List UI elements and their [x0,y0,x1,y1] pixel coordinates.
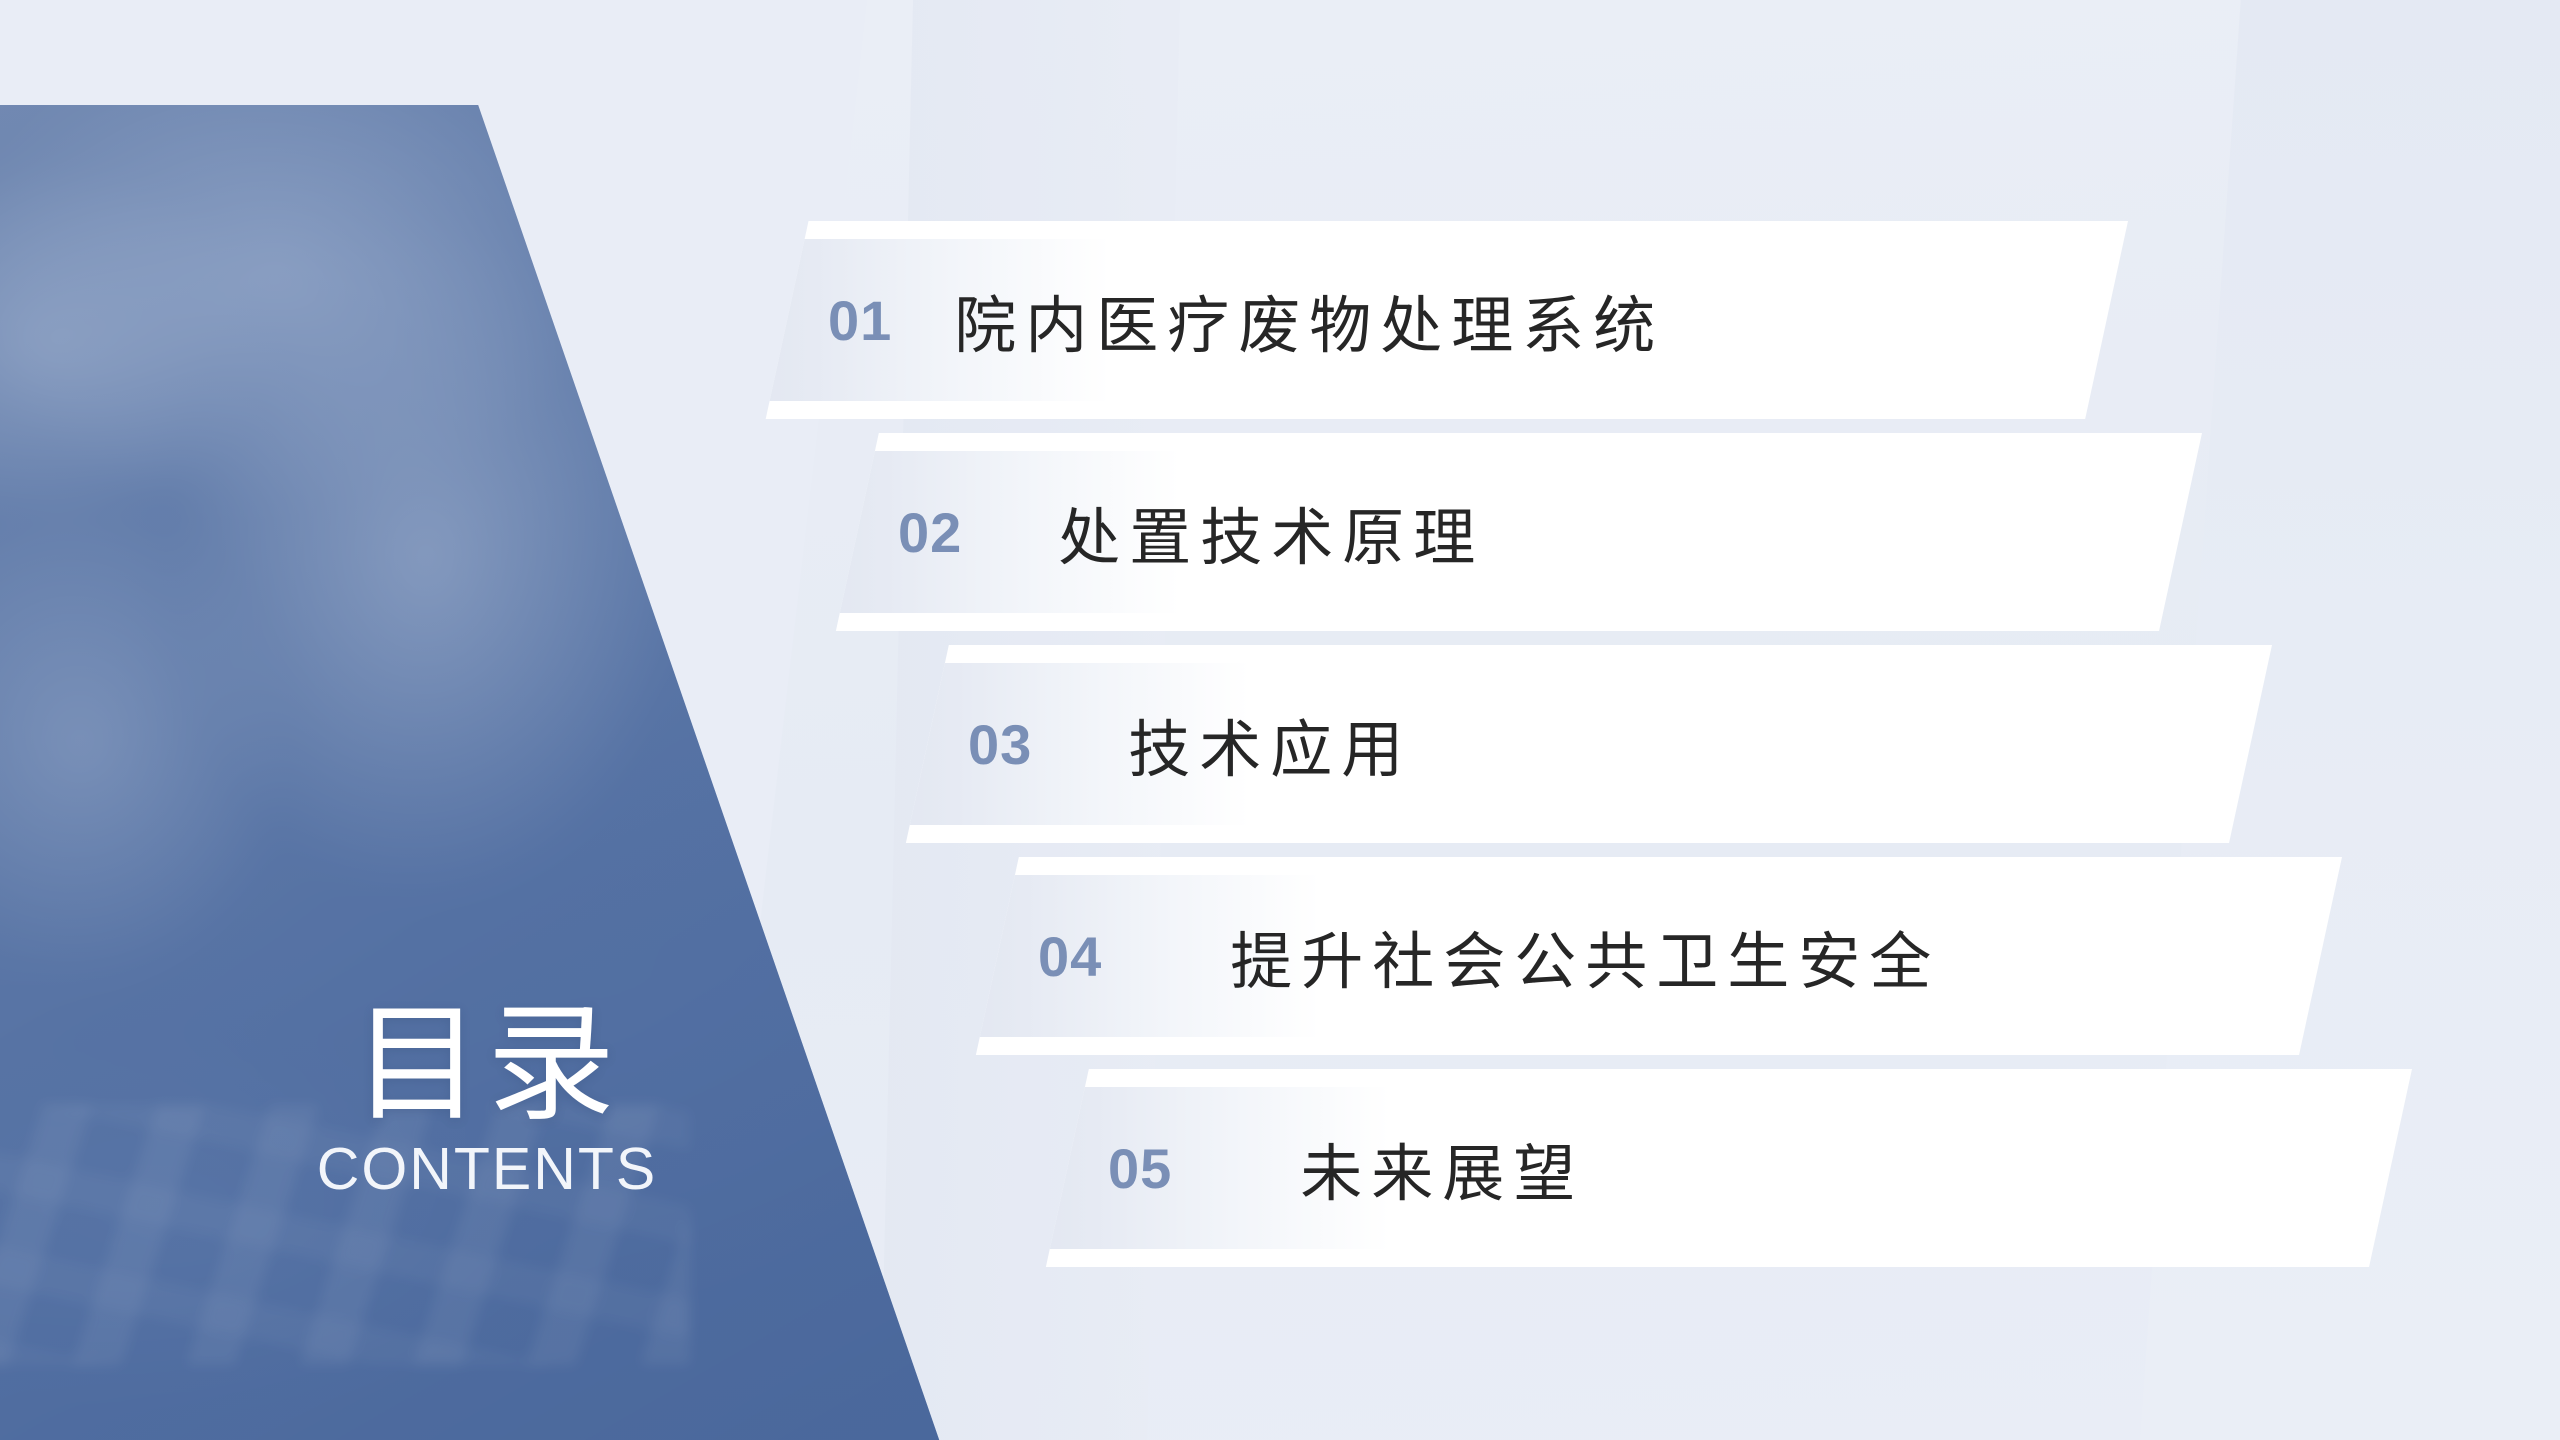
page-title-cn: 目录 [252,1000,722,1131]
contents-list: 01 院内医疗废物处理系统 02 处置技术原理 03 技术应用 04 提升社会公… [0,0,2560,1440]
contents-item-content: 05 未来展望 [980,1069,2412,1267]
contents-item-number: 04 [1038,924,1102,989]
contents-item-label: 未来展望 [1300,1123,1584,1213]
page-title-en: CONTENTS [252,1137,722,1202]
contents-item-label: 提升社会公共卫生安全 [1230,911,1940,1001]
contents-item-content: 03 技术应用 [840,645,2272,843]
contents-item-label: 处置技术原理 [1058,487,1484,577]
contents-item-content: 04 提升社会公共卫生安全 [910,857,2342,1055]
contents-item-02[interactable]: 02 处置技术原理 [770,433,2202,631]
contents-item-number: 02 [898,500,962,565]
contents-item-content: 02 处置技术原理 [770,433,2202,631]
contents-item-number: 05 [1108,1136,1172,1201]
contents-item-label: 院内医疗废物处理系统 [954,275,1664,365]
contents-item-label: 技术应用 [1128,699,1412,789]
contents-item-03[interactable]: 03 技术应用 [840,645,2272,843]
title-block: 目录 CONTENTS [252,1000,722,1201]
contents-item-01[interactable]: 01 院内医疗废物处理系统 [700,221,2128,419]
contents-item-number: 03 [968,712,1032,777]
contents-item-05[interactable]: 05 未来展望 [980,1069,2412,1267]
contents-slide: 目录 CONTENTS 01 院内医疗废物处理系统 02 处置技术原理 03 技… [0,0,2560,1440]
contents-item-number: 01 [828,288,892,353]
contents-item-04[interactable]: 04 提升社会公共卫生安全 [910,857,2342,1055]
contents-item-content: 01 院内医疗废物处理系统 [700,221,2128,419]
